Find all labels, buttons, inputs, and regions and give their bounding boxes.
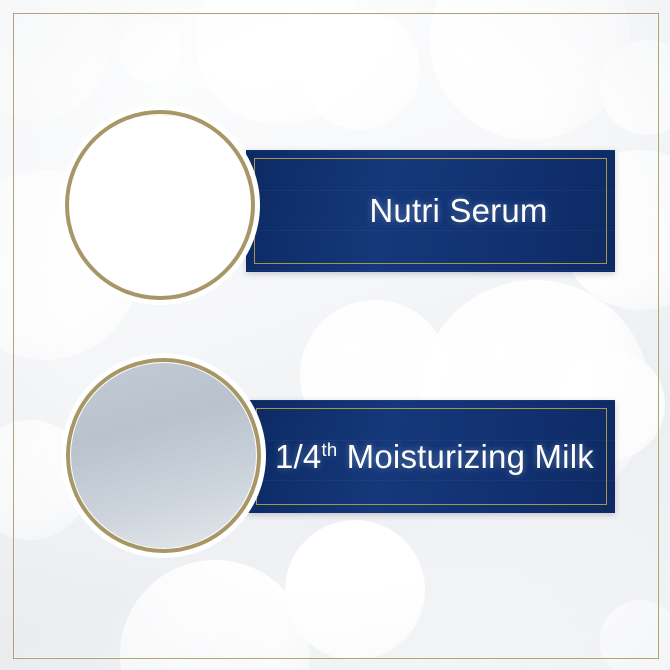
feature-banner-nutri-serum[interactable]: Nutri Serum — [246, 150, 615, 272]
feature-icon-badge-nutri-serum — [65, 110, 255, 300]
ordinal-suffix: th — [321, 439, 337, 460]
product-benefit-graphic: Nutri Serum 1/4th Moisturizing Milk — [0, 0, 670, 670]
feature-icon-badge-moisturizing-milk — [66, 358, 261, 553]
feature-label-moisturizing-milk: 1/4th Moisturizing Milk — [248, 438, 594, 476]
fraction-value: 1/4 — [275, 438, 321, 475]
feature-banner-moisturizing-milk[interactable]: 1/4th Moisturizing Milk — [248, 400, 615, 513]
serum-droplet-icon — [70, 115, 250, 295]
milk-splash-icon — [71, 363, 256, 548]
icon-backdrop — [70, 115, 250, 295]
feature-label-text: Moisturizing Milk — [337, 438, 594, 475]
feature-label-nutri-serum: Nutri Serum — [313, 192, 547, 230]
icon-backdrop — [71, 363, 256, 548]
background-vignette — [0, 0, 670, 670]
